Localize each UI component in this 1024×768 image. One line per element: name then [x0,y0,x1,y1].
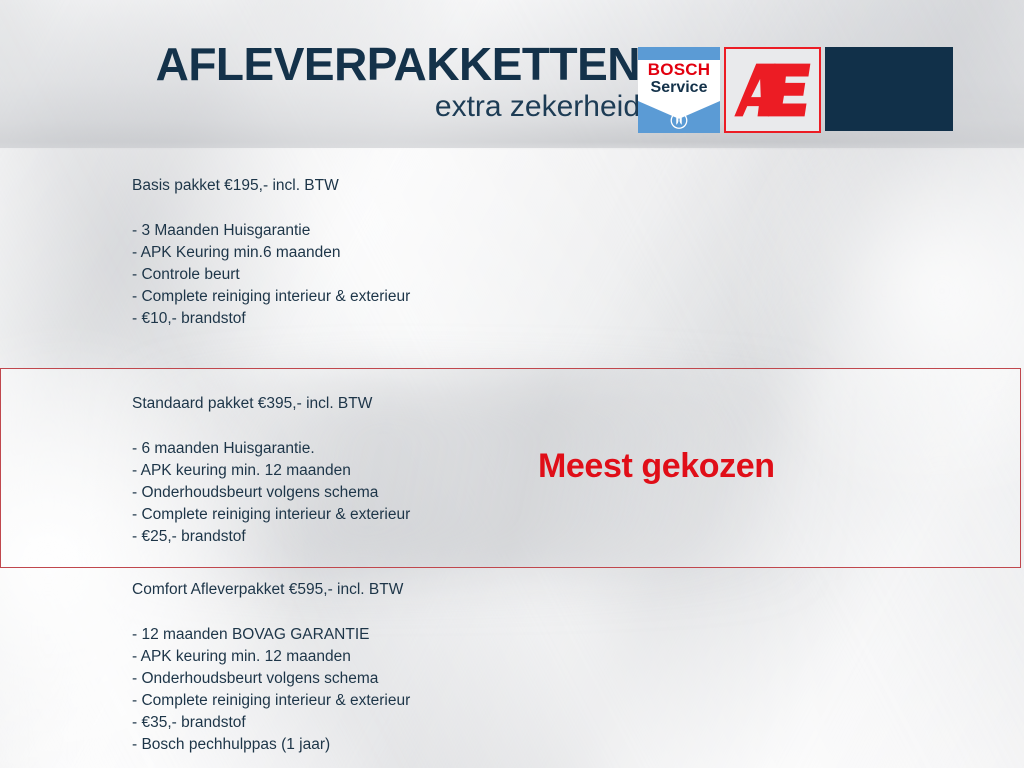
package-basis: Basis pakket €195,- incl. BTW - 3 Maande… [0,178,1024,330]
navy-logo-block [825,47,953,131]
bosch-service-logo: BOSCH Service [638,47,720,133]
ae-monogram-icon [734,61,812,119]
page-title: AFLEVERPAKKETTEN [88,40,640,88]
ae-logo [724,47,821,133]
list-item: - €10,- brandstof [132,308,1024,330]
package-standaard: Standaard pakket €395,- incl. BTW - 6 ma… [0,396,1024,548]
slide-canvas: AFLEVERPAKKETTEN extra zekerheid BOSCH S… [0,0,1024,768]
package-title: Standaard pakket €395,- incl. BTW [132,396,1024,412]
list-item: - Onderhoudsbeurt volgens schema [132,668,1024,690]
package-title: Basis pakket €195,- incl. BTW [132,178,1024,194]
list-item: - 12 maanden BOVAG GARANTIE [132,624,1024,646]
package-feature-list: - 12 maanden BOVAG GARANTIE - APK keurin… [132,624,1024,756]
bosch-top-bar [638,47,720,60]
list-item: - Complete reiniging interieur & exterie… [132,504,1024,526]
bosch-armature-icon [671,112,688,129]
title-block: AFLEVERPAKKETTEN extra zekerheid [88,40,640,123]
bosch-text-group: BOSCH Service [638,61,720,96]
list-item: - 3 Maanden Huisgarantie [132,220,1024,242]
page-subtitle: extra zekerheid [88,90,640,123]
status-badge-meest-gekozen: Meest gekozen [538,449,775,483]
slide-header: AFLEVERPAKKETTEN extra zekerheid BOSCH S… [0,0,1024,148]
bosch-service-label: Service [638,79,720,97]
list-item: - APK keuring min. 12 maanden [132,646,1024,668]
list-item: - Bosch pechhulppas (1 jaar) [132,734,1024,756]
logo-row: BOSCH Service [638,47,953,133]
list-item: - €25,- brandstof [132,526,1024,548]
list-item: - Complete reiniging interieur & exterie… [132,690,1024,712]
package-comfort: Comfort Afleverpakket €595,- incl. BTW -… [0,582,1024,756]
list-item: - APK Keuring min.6 maanden [132,242,1024,264]
package-feature-list: - 3 Maanden Huisgarantie - APK Keuring m… [132,220,1024,330]
list-item: - €35,- brandstof [132,712,1024,734]
bosch-wordmark: BOSCH [638,61,720,79]
package-title: Comfort Afleverpakket €595,- incl. BTW [132,582,1024,598]
list-item: - Complete reiniging interieur & exterie… [132,286,1024,308]
list-item: - Controle beurt [132,264,1024,286]
